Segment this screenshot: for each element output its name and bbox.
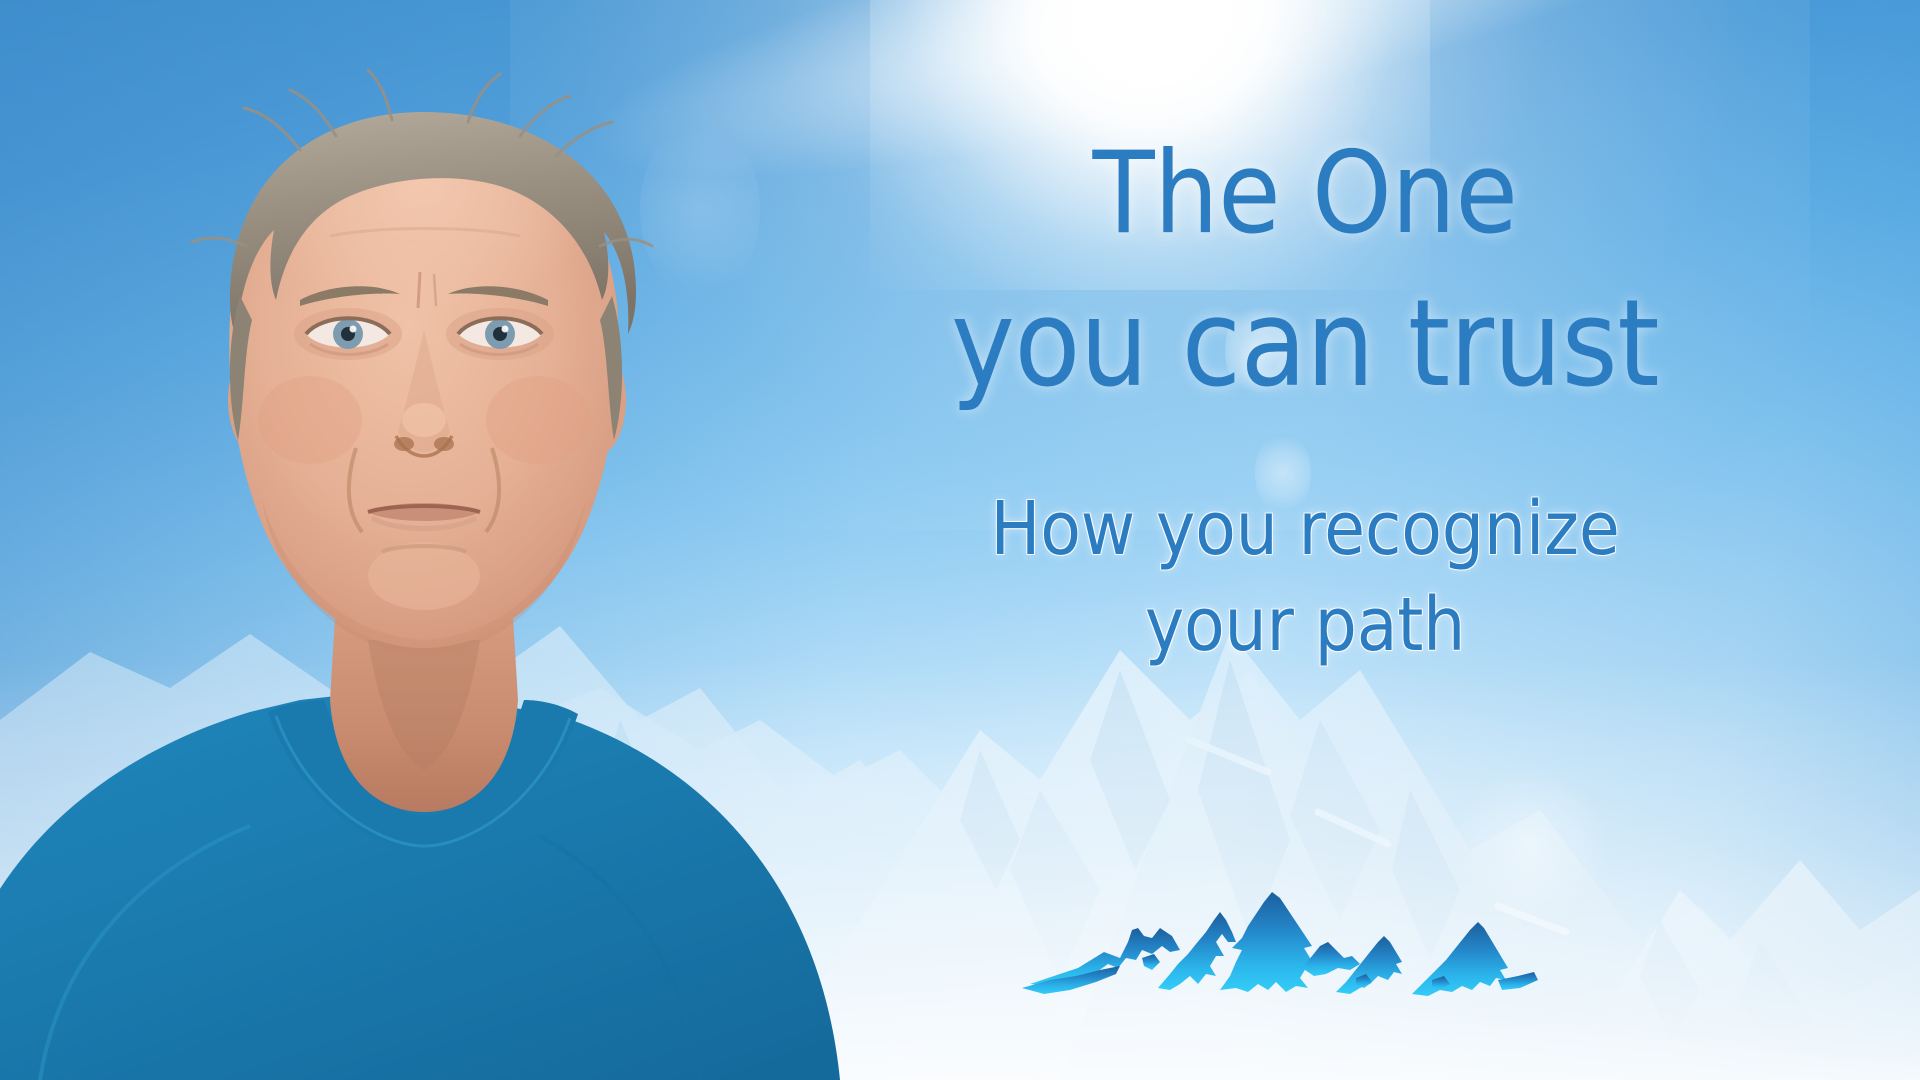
headline-line-1: The One [905, 120, 1705, 267]
headline: The One you can trust [905, 120, 1705, 423]
slide-copy-block: The One you can trust How you recognize … [905, 120, 1705, 673]
slide-canvas: The One you can trust How you recognize … [0, 0, 1920, 1080]
subheadline: How you recognize your path [905, 481, 1705, 673]
mountain-range-logo-icon [1020, 880, 1540, 1000]
subheadline-line-2: your path [905, 577, 1705, 673]
subheadline-line-1: How you recognize [905, 481, 1705, 577]
headline-line-2: you can trust [905, 267, 1705, 423]
